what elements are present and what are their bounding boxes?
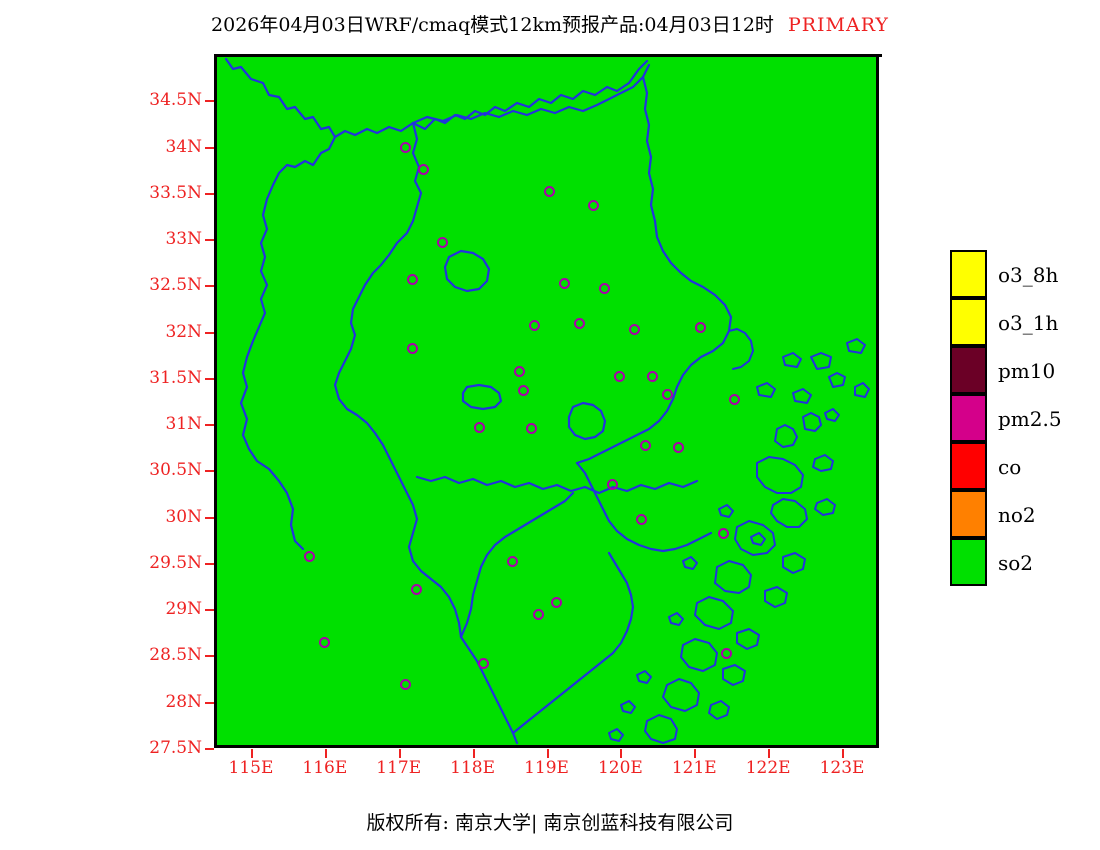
x-axis-tick-label: 115E	[216, 758, 286, 778]
x-axis-tick-label: 120E	[585, 758, 655, 778]
y-axis-tick-label: 31N	[122, 414, 202, 434]
x-axis-tick-label: 118E	[438, 758, 508, 778]
legend-color-swatch	[950, 490, 987, 538]
y-axis-tick-mark	[205, 147, 214, 149]
station-marker[interactable]	[319, 637, 330, 648]
station-marker[interactable]	[411, 584, 422, 595]
y-axis-tick-mark	[205, 563, 214, 565]
y-axis-tick-label: 28.5N	[122, 645, 202, 665]
y-axis-tick-label: 32N	[122, 322, 202, 342]
y-axis-tick-mark	[205, 748, 214, 750]
y-axis-tick-mark	[205, 239, 214, 241]
y-axis-tick-label: 29N	[122, 599, 202, 619]
y-axis-tick-mark	[205, 655, 214, 657]
y-axis-tick-mark	[205, 609, 214, 611]
y-axis-tick-mark	[205, 517, 214, 519]
legend-item-label: no2	[998, 503, 1036, 527]
legend-item[interactable]: co	[950, 443, 987, 491]
station-marker[interactable]	[574, 318, 585, 329]
station-marker[interactable]	[614, 371, 625, 382]
station-marker[interactable]	[400, 679, 411, 690]
station-marker[interactable]	[304, 551, 315, 562]
legend-color-swatch	[950, 250, 987, 298]
station-marker[interactable]	[529, 320, 540, 331]
x-axis-tick-label: 122E	[733, 758, 803, 778]
map-svg	[217, 57, 876, 745]
x-axis-tick-label: 116E	[290, 758, 360, 778]
legend-item-label: so2	[998, 551, 1033, 575]
y-axis-tick-label: 27.5N	[122, 738, 202, 758]
x-axis-tick-label: 123E	[807, 758, 877, 778]
y-axis-tick-mark	[205, 100, 214, 102]
x-axis-tick-label: 119E	[512, 758, 582, 778]
legend-item-label: pm2.5	[998, 407, 1062, 431]
y-axis-tick-label: 31.5N	[122, 368, 202, 388]
x-axis-tick-mark	[251, 749, 253, 758]
x-axis-tick-label: 117E	[364, 758, 434, 778]
x-axis-tick-mark	[325, 749, 327, 758]
x-axis-tick-label: 121E	[659, 758, 729, 778]
y-axis-tick-label: 30.5N	[122, 460, 202, 480]
y-axis-tick-mark	[205, 424, 214, 426]
station-marker[interactable]	[718, 528, 729, 539]
legend-item-label: co	[998, 455, 1021, 479]
y-axis-tick-label: 32.5N	[122, 275, 202, 295]
x-axis-tick-mark	[768, 749, 770, 758]
y-axis-tick-label: 28N	[122, 692, 202, 712]
legend-item[interactable]: o3_1h	[950, 299, 987, 347]
station-marker[interactable]	[437, 237, 448, 248]
station-marker[interactable]	[607, 479, 618, 490]
station-marker[interactable]	[407, 274, 418, 285]
station-marker[interactable]	[478, 658, 489, 669]
x-axis-tick-mark	[842, 749, 844, 758]
legend-item[interactable]: so2	[950, 539, 987, 587]
station-marker[interactable]	[474, 422, 485, 433]
legend: o3_8ho3_1hpm10pm2.5cono2so2	[950, 251, 987, 587]
station-marker[interactable]	[729, 394, 740, 405]
y-axis-tick-mark	[205, 378, 214, 380]
x-axis-tick-mark	[694, 749, 696, 758]
x-axis-tick-mark	[620, 749, 622, 758]
legend-item[interactable]: o3_8h	[950, 251, 987, 299]
legend-color-swatch	[950, 442, 987, 490]
station-marker[interactable]	[544, 186, 555, 197]
page-title: 2026年04月03日WRF/cmaq模式12km预报产品:04月03日12时P…	[0, 10, 1100, 37]
y-axis-tick-mark	[205, 193, 214, 195]
legend-item[interactable]: pm2.5	[950, 395, 987, 443]
station-marker[interactable]	[559, 278, 570, 289]
legend-item-label: o3_1h	[998, 311, 1058, 335]
station-marker[interactable]	[526, 423, 537, 434]
legend-item-label: o3_8h	[998, 263, 1058, 287]
x-axis-tick-mark	[547, 749, 549, 758]
y-axis-tick-label: 33.5N	[122, 183, 202, 203]
y-axis-tick-label: 34.5N	[122, 90, 202, 110]
legend-color-swatch	[950, 298, 987, 346]
map-panel[interactable]	[214, 54, 879, 748]
legend-item-label: pm10	[998, 359, 1055, 383]
station-marker[interactable]	[588, 200, 599, 211]
station-marker[interactable]	[400, 142, 411, 153]
footer-copyright: 版权所有: 南京大学| 南京创蓝科技有限公司	[0, 808, 1100, 835]
title-text: 2026年04月03日WRF/cmaq模式12km预报产品:04月03日12时	[211, 14, 774, 36]
y-axis-tick-mark	[205, 332, 214, 334]
legend-item[interactable]: no2	[950, 491, 987, 539]
y-axis-tick-label: 30N	[122, 507, 202, 527]
legend-color-swatch	[950, 346, 987, 394]
y-axis-tick-mark	[205, 285, 214, 287]
legend-color-swatch	[950, 538, 987, 586]
y-axis-tick-label: 33N	[122, 229, 202, 249]
legend-color-swatch	[950, 394, 987, 442]
y-axis-tick-mark	[205, 470, 214, 472]
y-axis-tick-label: 29.5N	[122, 553, 202, 573]
x-axis-tick-mark	[473, 749, 475, 758]
station-marker[interactable]	[518, 385, 529, 396]
legend-item[interactable]: pm10	[950, 347, 987, 395]
title-primary-badge: PRIMARY	[788, 14, 889, 36]
x-axis-tick-mark	[399, 749, 401, 758]
y-axis-tick-label: 34N	[122, 137, 202, 157]
y-axis-tick-mark	[205, 702, 214, 704]
station-marker[interactable]	[507, 556, 518, 567]
figure-root: 2026年04月03日WRF/cmaq模式12km预报产品:04月03日12时P…	[0, 0, 1100, 850]
